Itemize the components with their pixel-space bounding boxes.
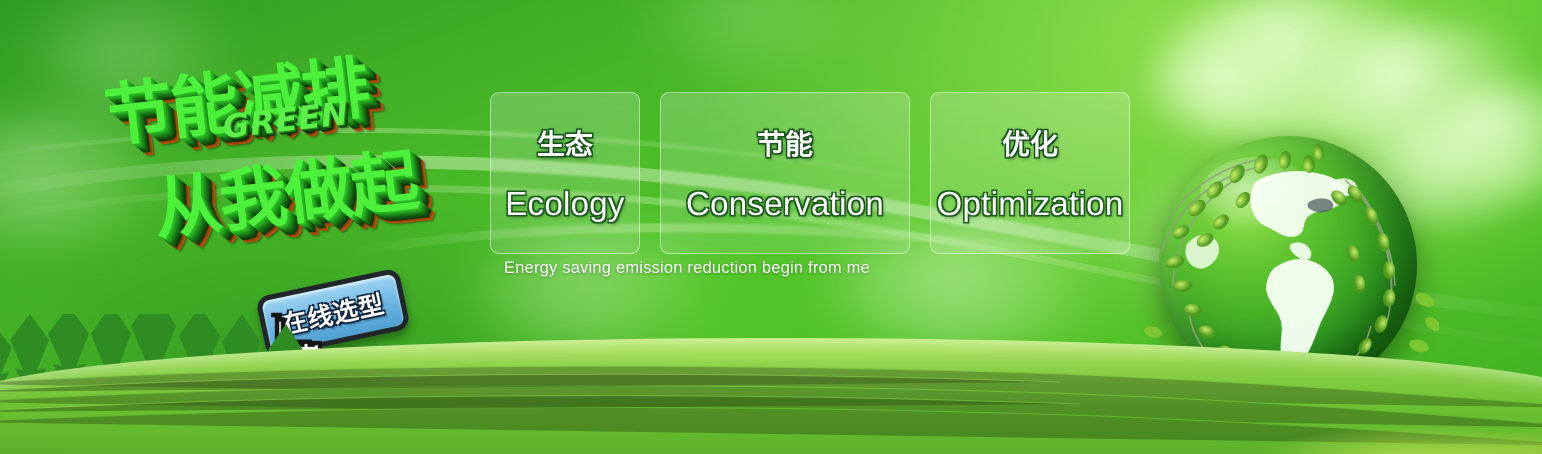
feature-card-en-label: Ecology: [505, 185, 625, 223]
clouds-icon: [640, 0, 900, 64]
eco-promo-banner: 节能减排 GREEN 从我做起 生态 Ecology 节能 Conservati…: [0, 0, 1542, 454]
feature-card-conservation[interactable]: 节能 Conservation: [660, 92, 910, 254]
feature-card-optimization[interactable]: 优化 Optimization: [930, 92, 1130, 254]
leaf-litter: [1130, 374, 1542, 454]
feature-card-en-label: Optimization: [936, 185, 1123, 223]
feature-card-ecology[interactable]: 生态 Ecology: [490, 92, 640, 254]
feature-card-cn-label: 优化: [1002, 123, 1058, 163]
feature-card-en-label: Conservation: [686, 185, 884, 223]
tagline: Energy saving emission reduction begin f…: [504, 259, 870, 278]
feature-card-cn-label: 节能: [757, 123, 813, 163]
feature-card-cn-label: 生态: [537, 123, 593, 163]
feature-card-group: 生态 Ecology 节能 Conservation 优化 Optimizati…: [490, 92, 1130, 254]
headline-3d: 节能减排 GREEN 从我做起: [84, 12, 507, 286]
grass-field-icon: [0, 338, 1542, 454]
